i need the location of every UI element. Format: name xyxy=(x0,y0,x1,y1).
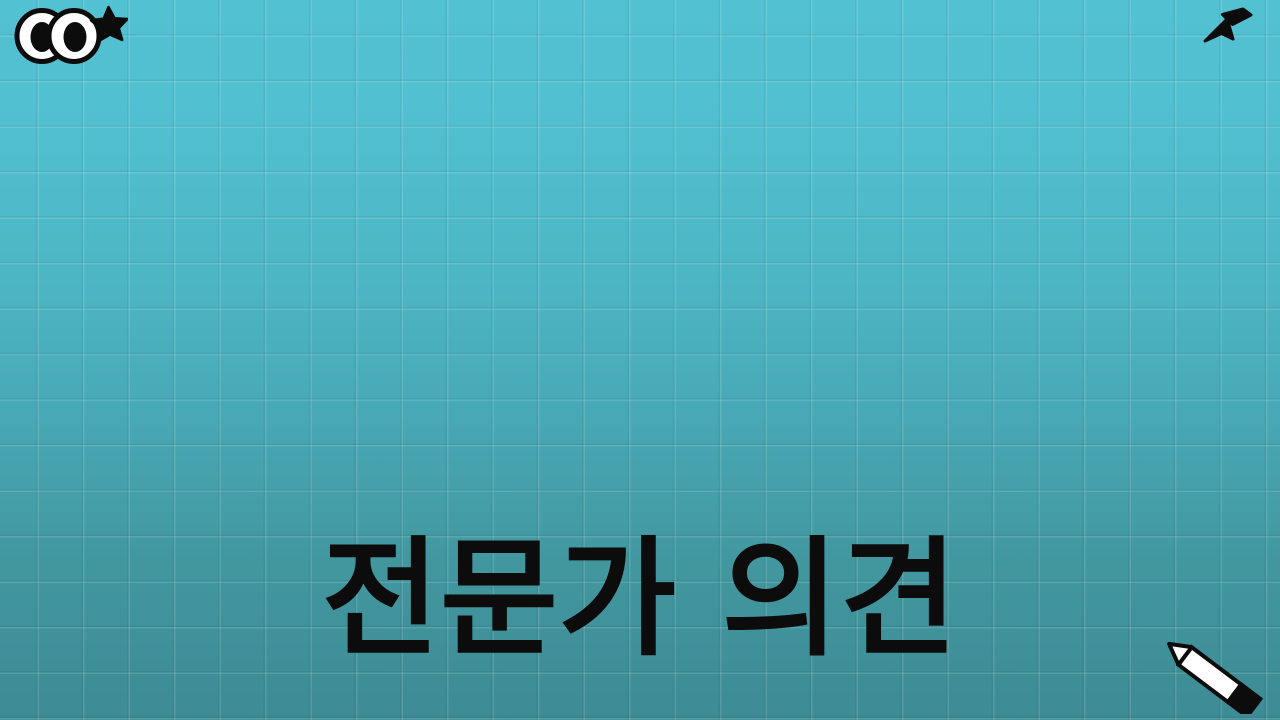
headline-line-1: 전문가 의견 xyxy=(0,514,1280,687)
headline: 전문가 의견 정책 방향 옳다 xyxy=(0,168,1280,720)
thumbnail-canvas: 전문가 의견 정책 방향 옳다 xyxy=(0,0,1280,720)
